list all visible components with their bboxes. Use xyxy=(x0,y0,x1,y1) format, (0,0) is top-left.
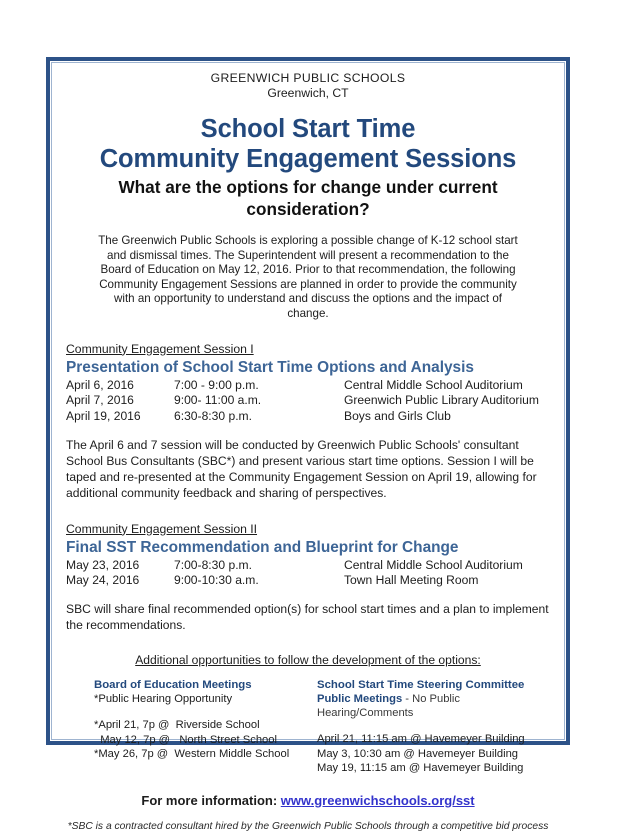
more-information-label: For more information: xyxy=(141,793,280,808)
list-item: May 3, 10:30 am @ Havemeyer Building xyxy=(317,747,532,761)
session-time: 7:00 - 9:00 p.m. xyxy=(174,378,344,394)
steering-committee-heading: School Start Time Steering Committee xyxy=(317,678,532,692)
table-row: April 6, 2016 7:00 - 9:00 p.m. Central M… xyxy=(66,378,550,394)
session-one-block: Community Engagement Session I Presentat… xyxy=(66,341,550,502)
steering-committee-column: School Start Time Steering Committee Pub… xyxy=(309,678,532,775)
steering-committee-subheading: Public Meetings - No Public Hearing/Comm… xyxy=(317,692,532,720)
session-time: 6:30-8:30 p.m. xyxy=(174,409,344,425)
flyer-page: GREENWICH PUBLIC SCHOOLS Greenwich, CT S… xyxy=(46,57,570,745)
steering-committee-meeting-list: April 21, 11:15 am @ Havemeyer Building … xyxy=(317,732,532,775)
table-row: May 23, 2016 7:00-8:30 p.m. Central Midd… xyxy=(66,558,550,574)
session-date: April 6, 2016 xyxy=(66,378,174,394)
session-two-eyebrow: Community Engagement Session II xyxy=(66,521,550,537)
board-of-education-subheading: *Public Hearing Opportunity xyxy=(94,692,309,706)
session-date: April 7, 2016 xyxy=(66,393,174,409)
session-place: Central Middle School Auditorium xyxy=(344,378,550,394)
list-item: *April 21, 7p @ Riverside School xyxy=(94,718,309,732)
steering-committee-subheading-bold: Public Meetings xyxy=(317,693,402,705)
intro-paragraph: The Greenwich Public Schools is explorin… xyxy=(92,234,524,322)
page-title-line-2: Community Engagement Sessions xyxy=(66,144,550,174)
session-two-block: Community Engagement Session II Final SS… xyxy=(66,521,550,634)
table-row: April 19, 2016 6:30-8:30 p.m. Boys and G… xyxy=(66,409,550,425)
organization-town: Greenwich, CT xyxy=(66,86,550,101)
website-link[interactable]: www.greenwichschools.org/sst xyxy=(281,793,475,808)
board-of-education-column: Board of Education Meetings *Public Hear… xyxy=(94,678,309,775)
additional-opportunities-columns: Board of Education Meetings *Public Hear… xyxy=(66,678,550,775)
title-block: School Start Time Community Engagement S… xyxy=(66,114,550,220)
session-two-heading: Final SST Recommendation and Blueprint f… xyxy=(66,538,550,557)
table-row: April 7, 2016 9:00- 11:00 a.m. Greenwich… xyxy=(66,393,550,409)
session-two-table: May 23, 2016 7:00-8:30 p.m. Central Midd… xyxy=(66,558,550,589)
session-place: Town Hall Meeting Room xyxy=(344,573,550,589)
footnote-disclaimer: *SBC is a contracted consultant hired by… xyxy=(66,821,550,832)
session-date: April 19, 2016 xyxy=(66,409,174,425)
board-of-education-meeting-list: *April 21, 7p @ Riverside School May 12,… xyxy=(94,718,309,761)
session-one-eyebrow: Community Engagement Session I xyxy=(66,341,550,357)
board-of-education-heading: Board of Education Meetings xyxy=(94,678,309,692)
session-place: Central Middle School Auditorium xyxy=(344,558,550,574)
table-row: May 24, 2016 9:00-10:30 a.m. Town Hall M… xyxy=(66,573,550,589)
session-date: May 24, 2016 xyxy=(66,573,174,589)
session-time: 9:00-10:30 a.m. xyxy=(174,573,344,589)
list-item: May 19, 11:15 am @ Havemeyer Building xyxy=(317,761,532,775)
session-one-table: April 6, 2016 7:00 - 9:00 p.m. Central M… xyxy=(66,378,550,425)
session-one-heading: Presentation of School Start Time Option… xyxy=(66,358,550,377)
list-item: May 12, 7p @ North Street School xyxy=(94,733,309,747)
organization-name: GREENWICH PUBLIC SCHOOLS xyxy=(66,71,550,86)
session-one-note: The April 6 and 7 session will be conduc… xyxy=(66,438,550,501)
session-two-note: SBC will share final recommended option(… xyxy=(66,602,550,634)
list-item: *May 26, 7p @ Western Middle School xyxy=(94,747,309,761)
list-item: April 21, 11:15 am @ Havemeyer Building xyxy=(317,732,532,746)
more-information-line: For more information: www.greenwichschoo… xyxy=(66,793,550,808)
session-date: May 23, 2016 xyxy=(66,558,174,574)
page-title-line-1: School Start Time xyxy=(66,114,550,144)
document-header: GREENWICH PUBLIC SCHOOLS Greenwich, CT xyxy=(66,71,550,101)
additional-opportunities-title: Additional opportunities to follow the d… xyxy=(66,653,550,667)
session-time: 9:00- 11:00 a.m. xyxy=(174,393,344,409)
session-time: 7:00-8:30 p.m. xyxy=(174,558,344,574)
page-subtitle: What are the options for change under cu… xyxy=(66,176,550,220)
flyer-content: GREENWICH PUBLIC SCHOOLS Greenwich, CT S… xyxy=(51,62,565,740)
session-place: Boys and Girls Club xyxy=(344,409,550,425)
session-place: Greenwich Public Library Auditorium xyxy=(344,393,550,409)
